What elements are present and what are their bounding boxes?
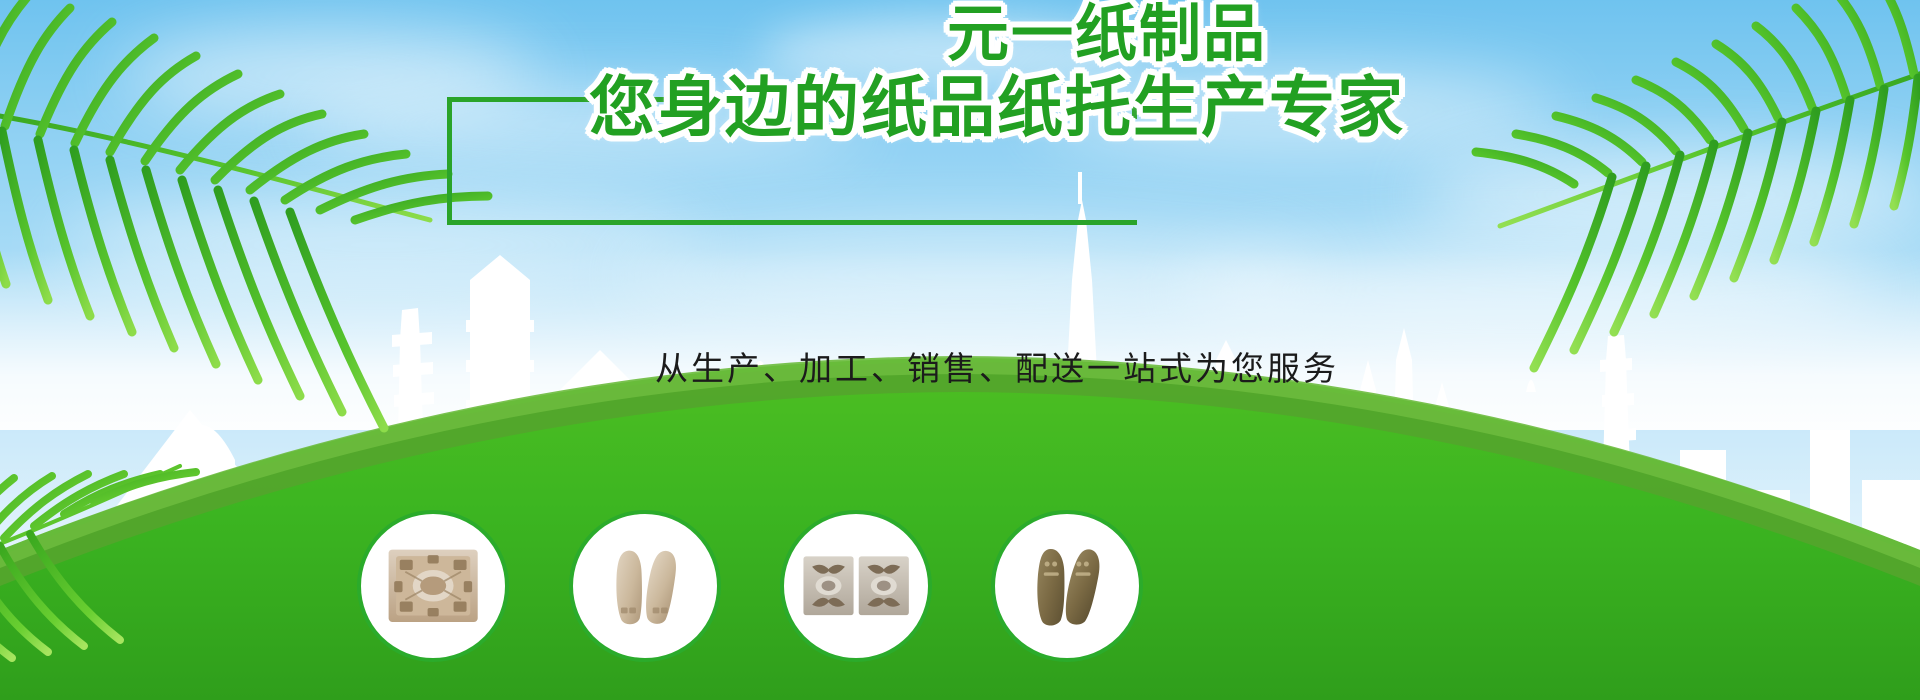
molded-pulp-dark-insoles — [1011, 544, 1123, 628]
product-circle-row — [0, 440, 1920, 700]
headline-text-group: 元一纸制品 您身边的纸品纸托生产专家 — [447, 3, 1547, 141]
molded-pulp-square-tray — [377, 544, 489, 628]
promo-banner: 元一纸制品 您身边的纸品纸托生产专家 从生产、加工、销售、配送一站式为您服务 — [0, 0, 1920, 700]
molded-pulp-shoe-insoles — [589, 544, 701, 628]
headline-line-2: 您身边的纸品纸托生产专家 — [447, 75, 1547, 141]
headline-line-1: 元一纸制品 — [667, 3, 1547, 65]
product-circle-1[interactable] — [357, 510, 509, 662]
headline-frame-block: 元一纸制品 您身边的纸品纸托生产专家 从生产、加工、销售、配送一站式为您服务 — [447, 97, 1137, 225]
subheadline-text: 从生产、加工、销售、配送一站式为您服务 — [447, 342, 1547, 390]
molded-pulp-paired-trays — [800, 544, 912, 628]
product-circle-3[interactable] — [780, 510, 932, 662]
product-circle-2[interactable] — [569, 510, 721, 662]
product-circle-4[interactable] — [991, 510, 1143, 662]
frame-bottom-border — [447, 220, 1137, 225]
